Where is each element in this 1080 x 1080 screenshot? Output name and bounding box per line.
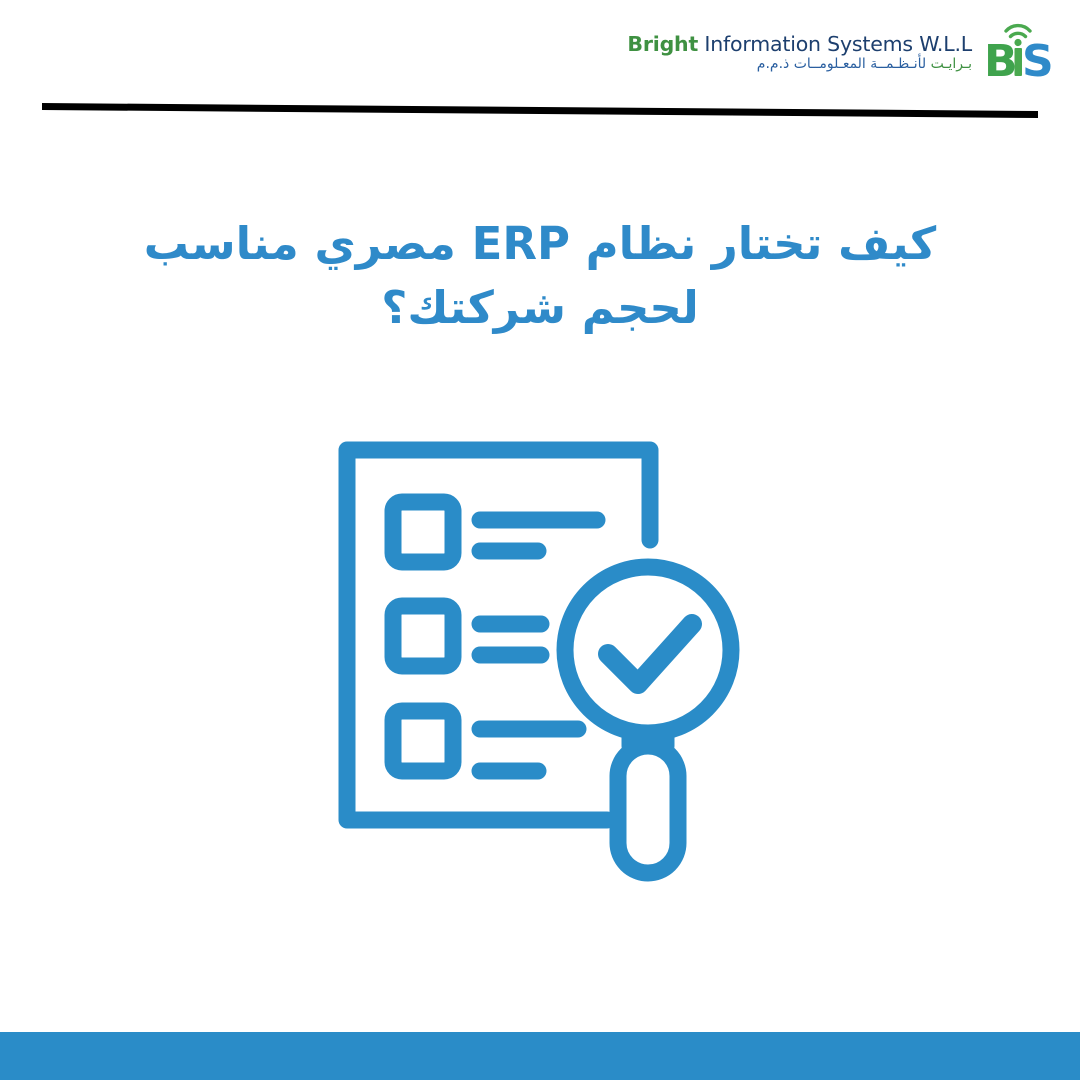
company-name-ar: بـرايـت لأنـظـمــة المعـلومــات ذ.م.م [627, 56, 972, 72]
svg-text:B: B [984, 36, 1018, 80]
svg-text:S: S [1022, 36, 1054, 80]
checkbox-1-icon [393, 502, 453, 562]
checklist-magnifier-illustration [320, 428, 760, 890]
magnifier-handle-icon [618, 733, 678, 873]
page-title-line-1: كيف تختار نظام ERP مصري مناسب [144, 217, 936, 270]
footer-bar [0, 1032, 1080, 1080]
checkbox-2-icon [393, 606, 453, 666]
company-name-en-rest: Information Systems W.L.L [698, 32, 972, 56]
brand-logo[interactable]: B S Bright Information Systems W.L.L بـر… [627, 18, 1058, 80]
poster-canvas: B S Bright Information Systems W.L.L بـر… [0, 0, 1080, 1080]
company-name-en: Bright Information Systems W.L.L [627, 34, 972, 56]
wifi-signal-icon [1006, 26, 1030, 37]
company-name-ar-blue: لأنـظـمــة المعـلومــات ذ.م.م [757, 56, 931, 72]
page-title-line-2: لحجم شركتك؟ [381, 281, 699, 334]
company-name-ar-green: بـرايـت [931, 56, 972, 72]
header-divider [0, 96, 1080, 126]
checkbox-3-icon [393, 711, 453, 771]
header: B S Bright Information Systems W.L.L بـر… [0, 0, 1080, 105]
brand-wordmark: Bright Information Systems W.L.L بـرايـت… [627, 26, 972, 73]
bis-logo-icon: B S [984, 18, 1058, 80]
company-name-en-bold: Bright [627, 32, 698, 56]
page-title: كيف تختار نظام ERP مصري مناسب لحجم شركتك… [90, 212, 990, 340]
